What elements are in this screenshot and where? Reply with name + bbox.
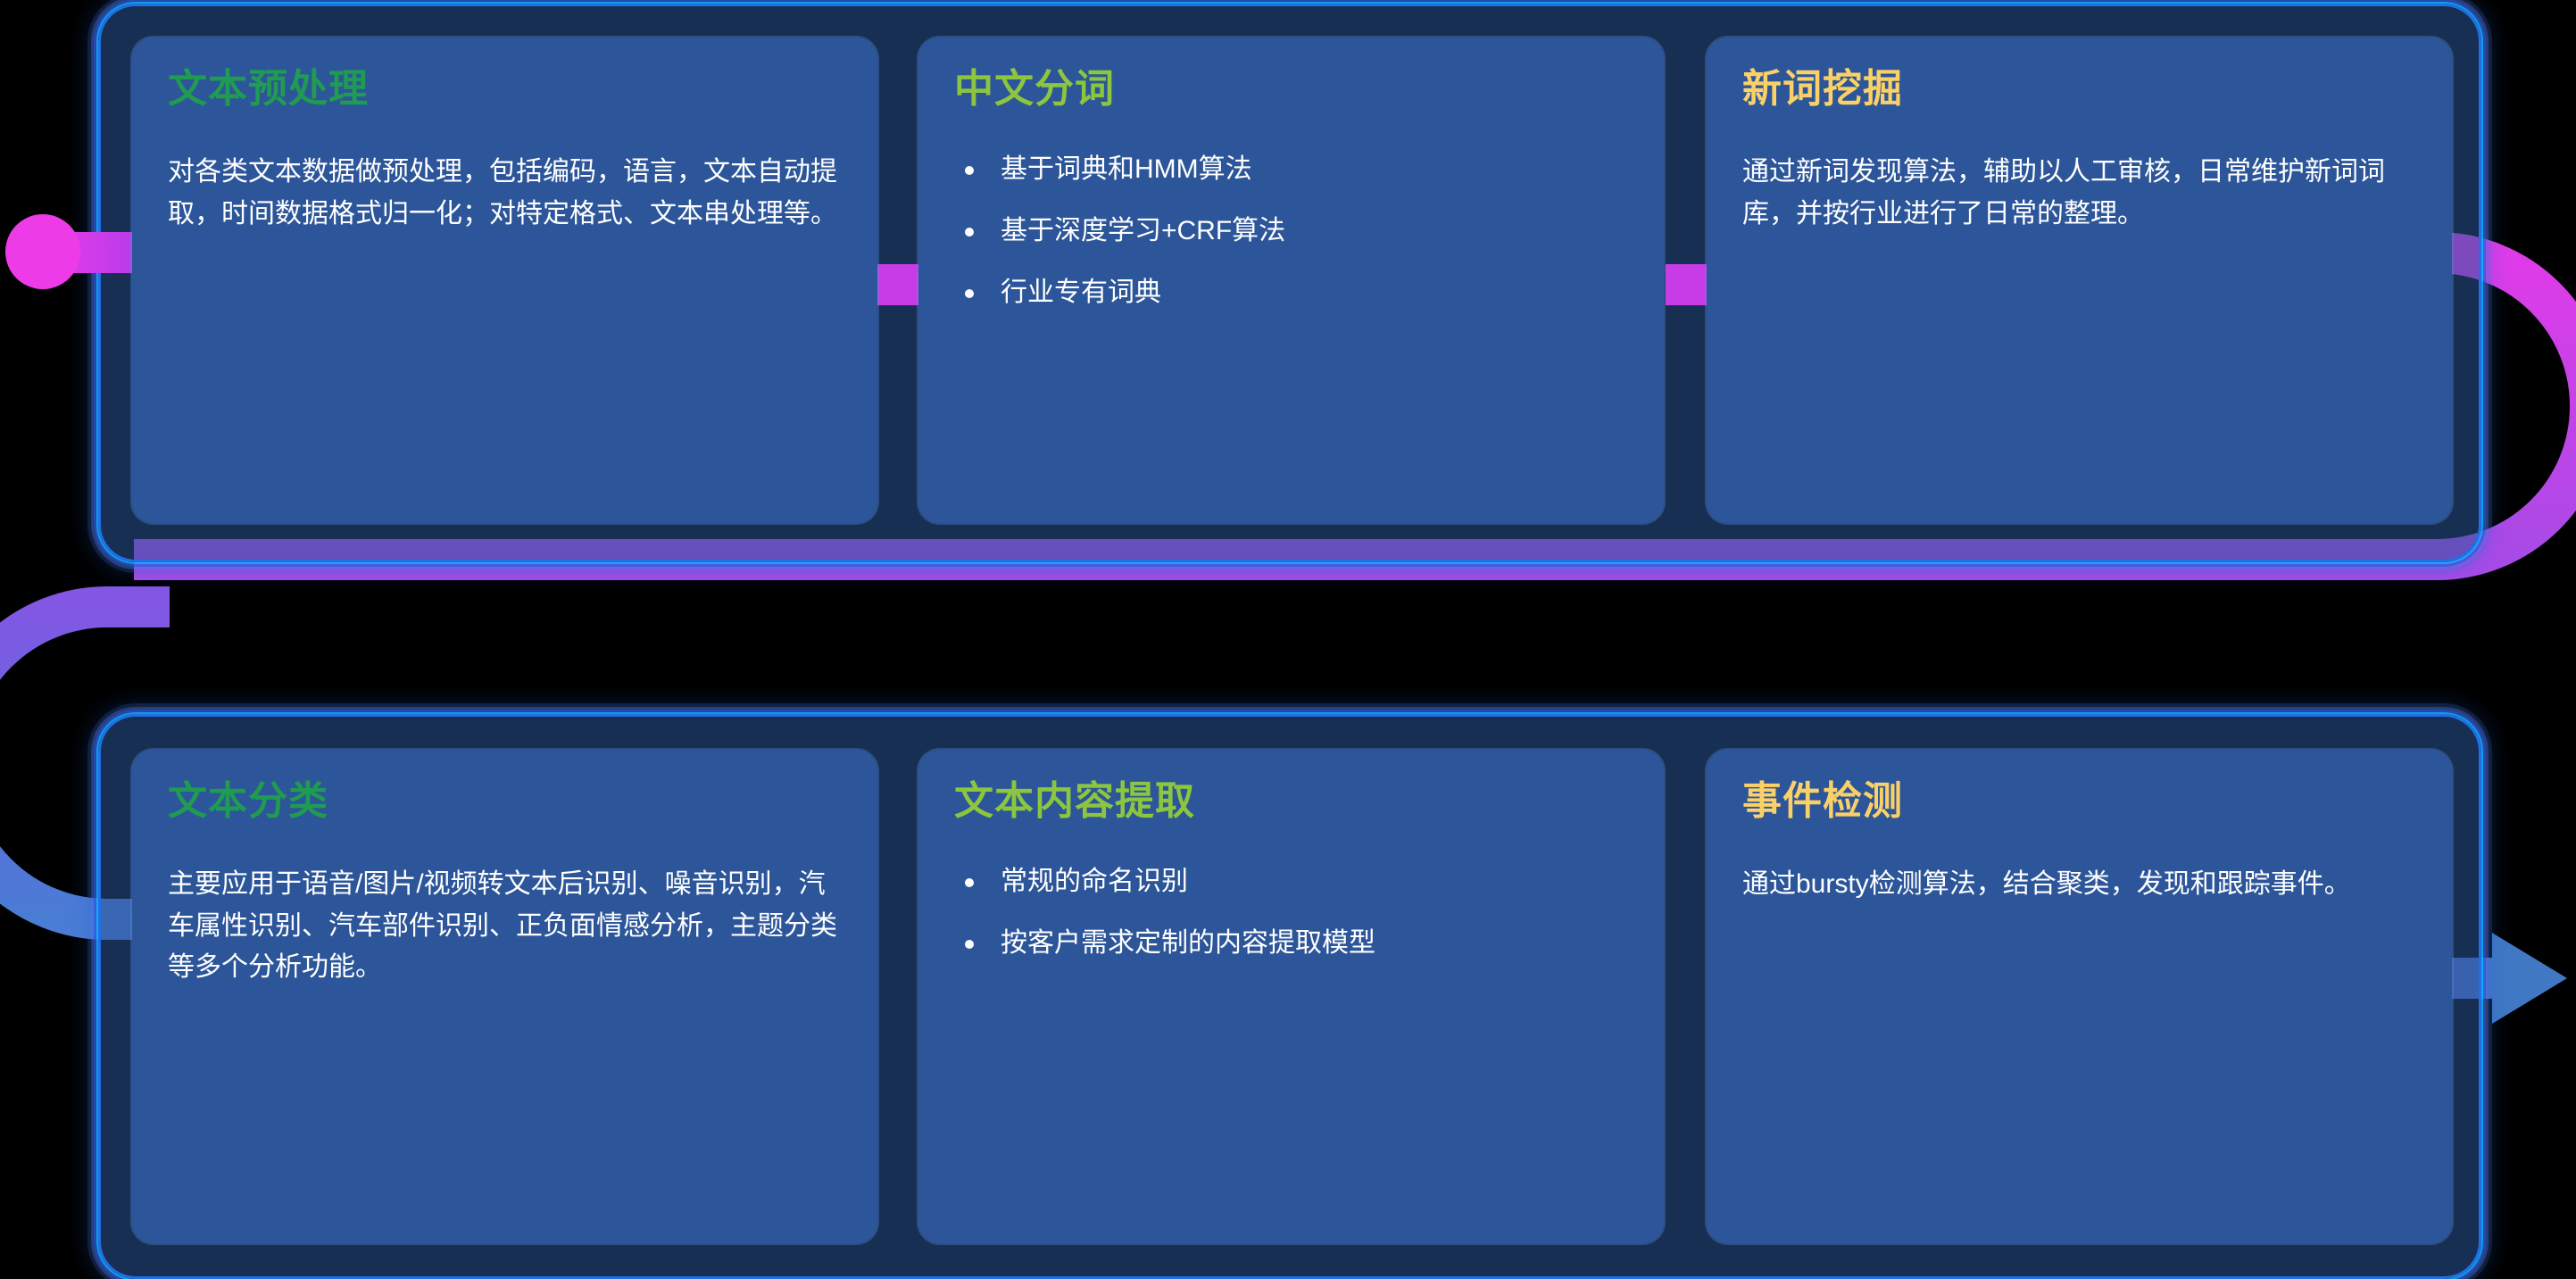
start-node-dot xyxy=(5,214,80,289)
card-body: 对各类文本数据做预处理，包括编码，语言，文本自动提取，时间数据格式归一化；对特定… xyxy=(168,152,842,235)
card-body: 主要应用于语音/图片/视频转文本后识别、噪音识别，汽车属性识别、汽车部件识别、正… xyxy=(168,864,842,989)
card-text-content-extraction[interactable]: 文本内容提取 常规的命名识别 按客户需求定制的内容提取模型 xyxy=(918,750,1664,1243)
card-body: 通过bursty检测算法，结合聚类，发现和跟踪事件。 xyxy=(1742,864,2416,906)
link-chip-1-2 xyxy=(877,264,918,305)
card-title: 中文分词 xyxy=(954,68,1628,111)
card-title: 文本预处理 xyxy=(168,68,842,111)
list-item: 基于深度学习+CRF算法 xyxy=(954,213,1628,248)
card-event-detection[interactable]: 事件检测 通过bursty检测算法，结合聚类，发现和跟踪事件。 xyxy=(1707,750,2452,1243)
card-body: 通过新词发现算法，辅助以人工审核，日常维护新词词库，并按行业进行了日常的整理。 xyxy=(1742,152,2416,235)
card-bullet-list: 常规的命名识别 按客户需求定制的内容提取模型 xyxy=(954,864,1628,960)
card-bullet-list: 基于词典和HMM算法 基于深度学习+CRF算法 行业专有词典 xyxy=(954,152,1628,310)
card-title: 事件检测 xyxy=(1742,780,2416,823)
card-text-classification[interactable]: 文本分类 主要应用于语音/图片/视频转文本后识别、噪音识别，汽车属性识别、汽车部… xyxy=(132,750,877,1243)
card-text-preprocessing[interactable]: 文本预处理 对各类文本数据做预处理，包括编码，语言，文本自动提取，时间数据格式归… xyxy=(132,37,877,523)
list-item: 按客户需求定制的内容提取模型 xyxy=(954,926,1628,960)
card-chinese-word-segmentation[interactable]: 中文分词 基于词典和HMM算法 基于深度学习+CRF算法 行业专有词典 xyxy=(918,37,1664,523)
card-title: 文本分类 xyxy=(168,780,842,823)
list-item: 行业专有词典 xyxy=(954,275,1628,310)
card-new-word-mining[interactable]: 新词挖掘 通过新词发现算法，辅助以人工审核，日常维护新词词库，并按行业进行了日常… xyxy=(1707,37,2452,523)
card-title: 新词挖掘 xyxy=(1742,68,2416,111)
list-item: 常规的命名识别 xyxy=(954,864,1628,899)
end-arrow-icon xyxy=(2492,933,2567,1024)
list-item: 基于词典和HMM算法 xyxy=(954,152,1628,187)
card-title: 文本内容提取 xyxy=(954,780,1628,823)
link-chip-2-3 xyxy=(1666,264,1707,305)
